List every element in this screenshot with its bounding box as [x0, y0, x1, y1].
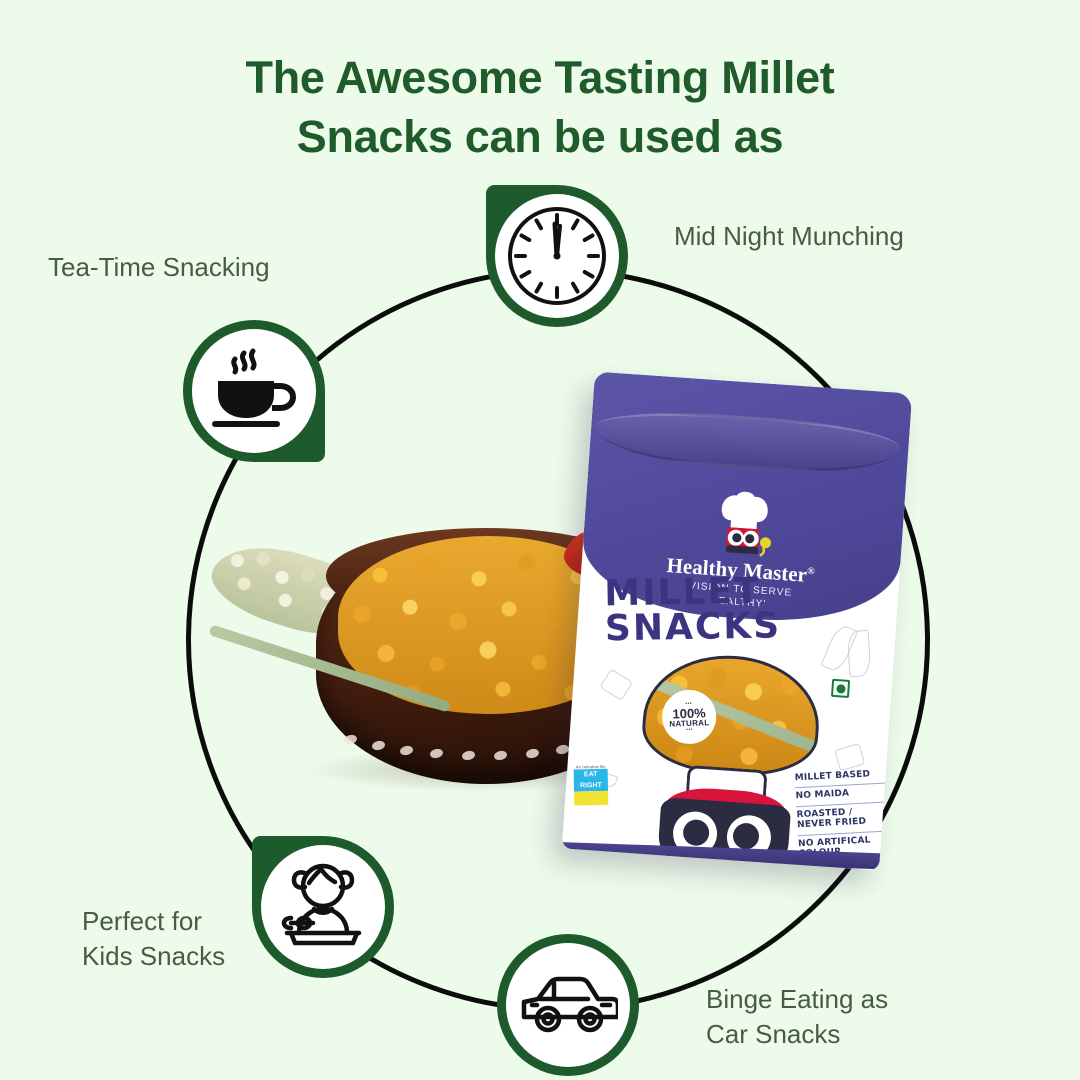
product-name: MILLET SNACKS — [604, 573, 781, 647]
pack-body: Healthy Master® 'VISION TO SERVE HEALTHY… — [562, 371, 913, 870]
label-car-snacks-line-1: Binge Eating as — [706, 982, 888, 1017]
page-title-line-1: The Awesome Tasting Millet — [0, 48, 1080, 107]
icon-disc — [261, 845, 385, 969]
use-case-node-kids-snacks[interactable] — [252, 836, 394, 978]
label-tea-time-snacking: Tea-Time Snacking — [48, 250, 270, 285]
veg-dot — [836, 684, 846, 694]
label-car-snacks-line-2: Car Snacks — [706, 1017, 888, 1052]
badge-yellow-block — [574, 791, 608, 806]
car-icon — [518, 969, 618, 1041]
label-mid-night-munching: Mid Night Munching — [674, 219, 904, 254]
badge-line-2: RIGHT — [574, 780, 608, 792]
label-kids-snacks: Perfect for Kids Snacks — [82, 904, 225, 975]
eat-right-india-badge: An Initiative By EAT RIGHT — [574, 764, 609, 813]
badge-caption: An Initiative By — [574, 764, 608, 770]
child-eating-icon — [271, 857, 375, 957]
chip-doodle-icon — [599, 669, 633, 701]
badge-line-1: EAT — [574, 769, 608, 781]
label-kids-snacks-line-2: Kids Snacks — [82, 939, 225, 974]
icon-disc — [506, 943, 630, 1067]
label-car-snacks: Binge Eating as Car Snacks — [706, 982, 888, 1053]
chef-hat-snack-window: ••• 100% NATURAL ••• — [640, 650, 824, 780]
use-case-node-tea-time-snacking[interactable] — [183, 320, 325, 462]
leaf-doodle-icon — [846, 630, 871, 677]
clock-icon — [505, 204, 609, 308]
page-title: The Awesome Tasting Millet Snacks can be… — [0, 48, 1080, 167]
product-name-line-2: SNACKS — [605, 609, 782, 647]
tea-cup-icon — [206, 345, 302, 437]
brand-logo-mascot-icon — [706, 484, 781, 561]
label-kids-snacks-line-1: Perfect for — [82, 904, 225, 939]
icon-disc — [495, 194, 619, 318]
promo-graphic: The Awesome Tasting Millet Snacks can be… — [0, 0, 1080, 1080]
registered-mark: ® — [807, 566, 815, 577]
product-pack: Healthy Master® 'VISION TO SERVE HEALTHY… — [562, 371, 913, 870]
veg-mark-icon — [831, 679, 850, 698]
natural-badge-bottom-flourish: ••• — [686, 727, 693, 732]
natural-badge: ••• 100% NATURAL ••• — [661, 689, 717, 745]
use-case-node-car-snacks[interactable] — [497, 934, 639, 1076]
page-title-line-2: Snacks can be used as — [0, 107, 1080, 166]
icon-disc — [192, 329, 316, 453]
use-case-node-mid-night-munching[interactable] — [486, 185, 628, 327]
badge-blue-block: EAT RIGHT — [574, 769, 608, 792]
